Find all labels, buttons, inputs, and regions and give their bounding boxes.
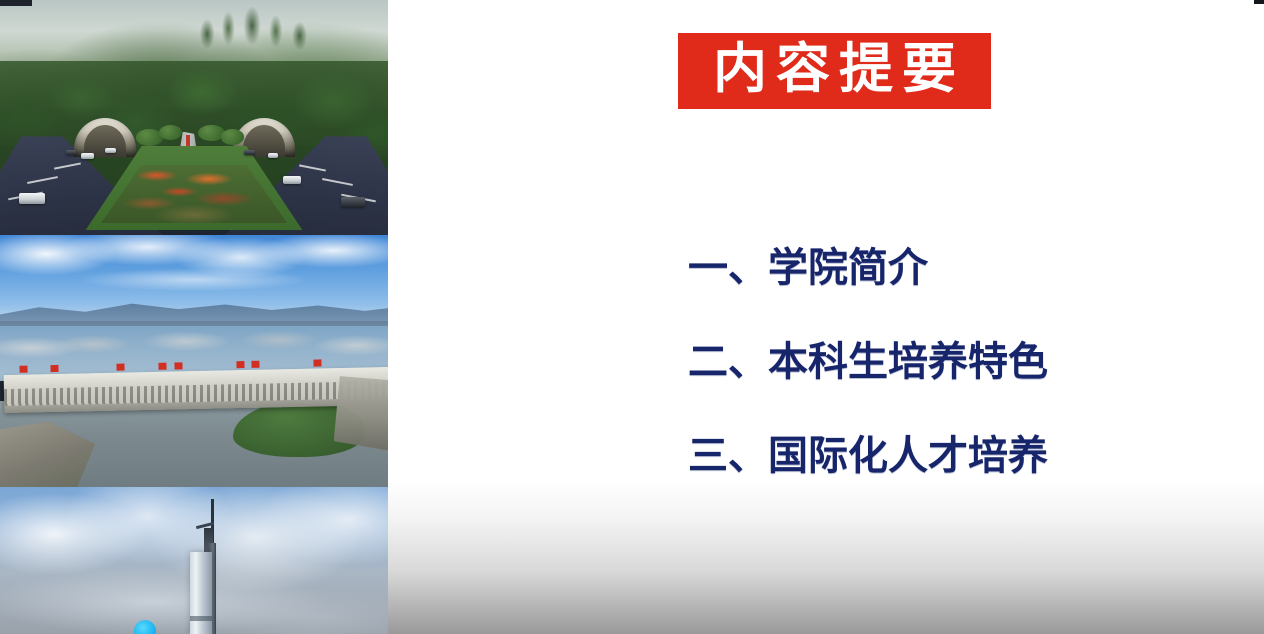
- presentation-slide: 内容提要 一、学院简介 二、本科生培养特色 三、国际化人才培养: [388, 0, 1264, 634]
- highway-tunnel-image: [0, 0, 388, 235]
- video-tile-three-gorges-dam[interactable]: [0, 235, 388, 487]
- agenda-item-3: 三、国际化人才培养: [688, 436, 1208, 476]
- recording-bar-marker: [0, 0, 32, 6]
- agenda-item-1: 一、学院简介: [688, 248, 1208, 288]
- three-gorges-dam-image: [0, 235, 388, 487]
- slide-title-text: 内容提要: [704, 42, 965, 96]
- skyscraper-image: [0, 487, 388, 634]
- screen-share-view: 内容提要 一、学院简介 二、本科生培养特色 三、国际化人才培养: [0, 0, 1264, 634]
- video-tile-highway-tunnel[interactable]: [0, 0, 388, 235]
- slide-title-banner: 内容提要: [678, 33, 991, 109]
- participant-video-strip[interactable]: [0, 0, 388, 634]
- slide-agenda-list: 一、学院简介 二、本科生培养特色 三、国际化人才培养: [688, 248, 1208, 476]
- screen-edge-marker: [1254, 0, 1264, 4]
- video-tile-skyscraper[interactable]: [0, 487, 388, 634]
- agenda-item-2: 二、本科生培养特色: [688, 342, 1208, 382]
